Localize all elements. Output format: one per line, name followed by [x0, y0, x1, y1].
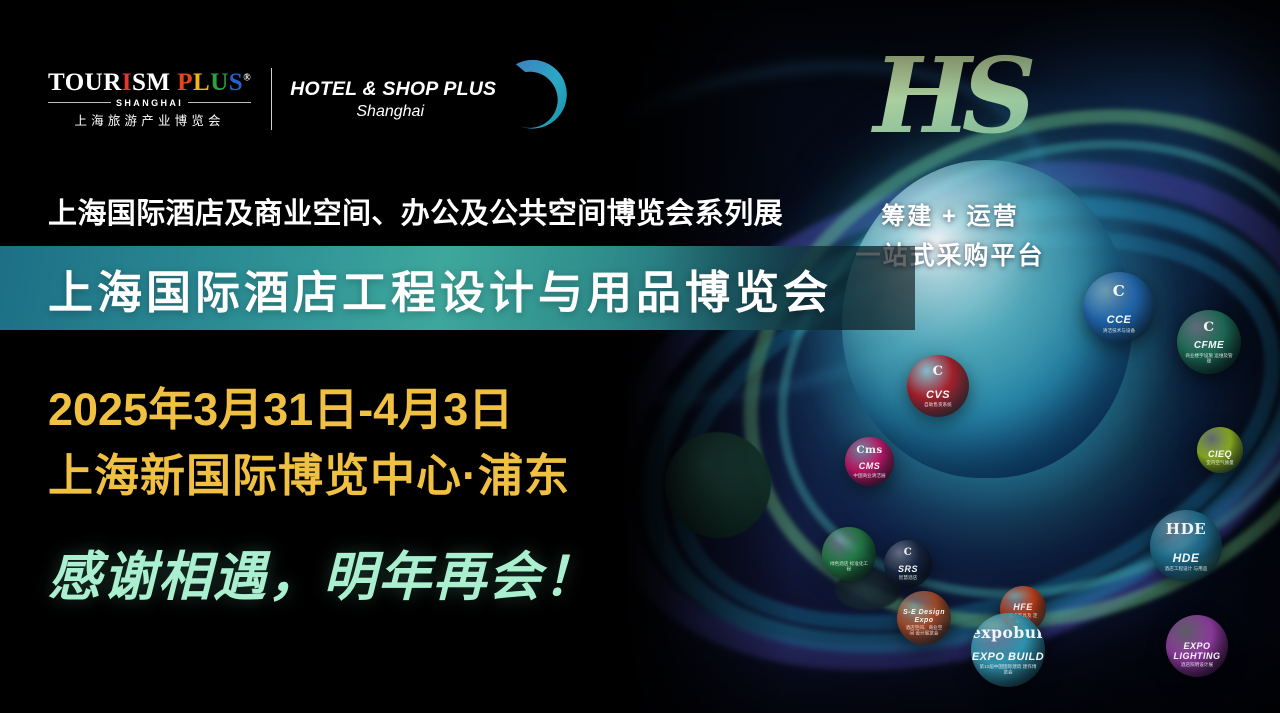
badge-subtitle-cvs: 自助售货系统: [909, 401, 966, 408]
hotel-shop-plus-city: Shanghai: [356, 103, 430, 121]
tourism-plus-letter-3: P: [177, 69, 193, 96]
tourism-plus-letter-1: I: [122, 69, 132, 96]
tourism-plus-letter-5: U: [210, 69, 229, 96]
badge-subtitle-leaf: 绿色酒店 标准化工程: [824, 560, 874, 572]
tourism-plus-letter-2: SM: [132, 69, 177, 96]
badge-expo-build[interactable]: expobuildEXPO BUILD第12届中国国际建筑 建作博览会: [971, 613, 1045, 687]
badge-mark-srs: C: [884, 547, 932, 558]
closing-slogan: 感谢相遇，明年再会！: [48, 535, 598, 611]
badge-name-cvs: CVS: [907, 390, 969, 402]
badge-mark-cms: Cms: [845, 444, 894, 456]
badge-name-cms: CMS: [845, 462, 894, 471]
event-venue: 上海新国际博览中心·浦东: [48, 439, 570, 504]
badge-cvs[interactable]: CCVS自助售货系统: [907, 355, 969, 417]
badge-cms[interactable]: CmsCMS中国商业清洁展: [845, 437, 894, 486]
tourism-plus-wordmark: TOURISM PLUS®: [48, 70, 251, 95]
badge-mark-hde: HDE: [1150, 520, 1222, 538]
tourism-plus-letter-4: L: [193, 69, 210, 96]
badge-subtitle-cms: 中国商业清洁展: [847, 472, 892, 479]
badge-subtitle-srs: 智慧酒店: [886, 574, 930, 581]
badge-cfme[interactable]: CCFME商业楼宇设施 运维及管理: [1177, 310, 1241, 374]
series-title: 上海国际酒店及商业空间、办公及公共空间博览会系列展: [48, 190, 783, 232]
badge-name-cieq: CIEQ: [1197, 450, 1243, 459]
badge-cieq[interactable]: CIEQ室内空气质量: [1197, 427, 1243, 473]
hotel-shop-plus-wordmark: HOTEL & SHOP PLUS: [290, 78, 496, 101]
logo-divider: [271, 68, 272, 130]
badge-subtitle-expo-lighting: 酒店照明设计展: [1168, 661, 1225, 668]
badge-cce[interactable]: CCCE清洁技术与设备: [1083, 272, 1155, 344]
tourism-plus-letter-6: S: [229, 69, 243, 96]
badge-subtitle-cfme: 商业楼宇设施 运维及管理: [1180, 352, 1239, 364]
tourism-plus-name-cn: 上海旅游产业博览会: [74, 110, 224, 129]
satellite-sphere: [665, 432, 771, 538]
badge-leaf[interactable]: 绿色酒店 标准化工程: [822, 527, 876, 581]
tourism-plus-logo: TOURISM PLUS® SHANGHAI 上海旅游产业博览会: [48, 70, 251, 129]
badge-subtitle-expo-build: 第12届中国国际建筑 建作博览会: [974, 664, 1042, 676]
registered-mark: ®: [243, 72, 251, 83]
swoosh-icon: [494, 58, 572, 136]
badge-mark-cvs: C: [907, 364, 969, 379]
badge-name-hde: HDE: [1150, 552, 1222, 565]
tourism-plus-rule: SHANGHAI: [48, 98, 251, 108]
tourism-plus-city: SHANGHAI: [116, 98, 183, 108]
badge-srs[interactable]: CSRS智慧酒店: [884, 540, 932, 588]
badge-design-expo[interactable]: S-E Design Expo酒店空间、商业空间 设计展览会: [897, 591, 951, 645]
badge-subtitle-design-expo: 酒店空间、商业空间 设计展览会: [899, 624, 949, 636]
badge-subtitle-cieq: 室内空气质量: [1199, 460, 1241, 467]
promo-poster: HS 筹建 + 运营 一站式采购平台 CCCE清洁技术与设备CCFME商业楼宇设…: [0, 0, 1280, 713]
hotel-shop-plus-logo: HOTEL & SHOP PLUS Shanghai: [290, 78, 568, 121]
badge-name-expo-lighting: EXPO LIGHTING: [1166, 642, 1228, 661]
rule-left: [48, 102, 111, 103]
badge-name-design-expo: S-E Design Expo: [897, 609, 951, 624]
tourism-plus-letter-0: TOUR: [48, 69, 122, 96]
badge-mark-cfme: C: [1177, 319, 1241, 335]
main-exhibition-title: 上海国际酒店工程设计与用品博览会: [48, 256, 832, 321]
badge-mark-cce: C: [1083, 282, 1155, 300]
badge-name-cce: CCE: [1083, 315, 1155, 327]
logo-lockup: TOURISM PLUS® SHANGHAI 上海旅游产业博览会 HOTEL &…: [48, 68, 568, 130]
badge-mark-expo-build: expobuild: [971, 623, 1045, 642]
hs-monogram: HS: [620, 44, 1280, 148]
badge-hde[interactable]: HDEHDE酒店工程设计 与用品: [1150, 510, 1222, 582]
badge-subtitle-cce: 清洁技术与设备: [1086, 327, 1152, 334]
badge-name-hfe: HFE: [1000, 603, 1046, 612]
event-date: 2025年3月31日-4月3日: [48, 373, 513, 438]
rule-right: [188, 102, 251, 103]
badge-expo-lighting[interactable]: EXPO LIGHTING酒店照明设计展: [1166, 615, 1228, 677]
badge-name-cfme: CFME: [1177, 341, 1241, 352]
badge-subtitle-hde: 酒店工程设计 与用品: [1153, 565, 1219, 572]
badge-name-srs: SRS: [884, 565, 932, 574]
badge-name-expo-build: EXPO BUILD: [971, 652, 1045, 664]
